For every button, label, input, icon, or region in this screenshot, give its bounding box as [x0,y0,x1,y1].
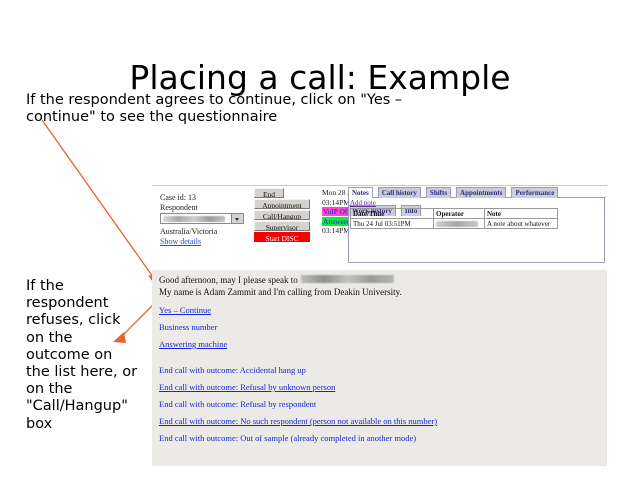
tab-call-history[interactable]: Call history [378,187,421,198]
show-details-link[interactable]: Show details [160,237,201,247]
respondent-select[interactable] [160,213,244,224]
table-header-row: Date/Time Operator Note [351,209,558,219]
cell-note: A note about whatever [485,219,558,229]
table-row[interactable]: Thu 24 Jul 03:51PM A note about whatever [351,219,558,229]
call-control-panel: Case id: 13 Respondent Australia/Victori… [156,190,346,260]
tab-performance[interactable]: Performance [511,187,558,198]
slide-canvas: Placing a call: Example If the responden… [0,0,640,480]
outcome-link-accidental-hangup[interactable]: End call with outcome: Accidental hang u… [159,365,306,375]
outcome-link-refusal-respondent[interactable]: End call with outcome: Refusal by respon… [159,399,316,409]
call-hangup-button[interactable]: Call/Hangup [254,210,310,220]
left-callout-text: If the respondent refuses, click on the … [26,278,138,433]
app-top-strip: Case id: 13 Respondent Australia/Victori… [152,185,607,264]
chevron-down-icon[interactable] [231,214,243,223]
start-disc-button[interactable]: Start DISC [254,232,310,242]
outcome-link-business-number[interactable]: Business number [159,322,217,332]
outcome-link-no-such-respondent[interactable]: End call with outcome: No such responden… [159,416,437,426]
column-header-datetime: Date/Time [351,209,434,219]
notes-table: Date/Time Operator Note Thu 24 Jul 03:51… [350,208,558,229]
outcome-link-answering-machine[interactable]: Answering machine [159,339,227,349]
supervisor-button[interactable]: Supervisor [254,221,310,231]
respondent-name-redacted [301,275,394,283]
script-area: Good afternoon, may I please speak to My… [152,270,607,466]
tab-notes[interactable]: Notes [348,187,373,198]
voip-status-badge[interactable]: VoIP Off [322,207,351,216]
timezone-label: Australia/Victoria [160,227,217,237]
end-button[interactable]: End [254,188,284,198]
top-callout-text: If the respondent agrees to continue, cl… [26,92,456,126]
script-line-greeting: Good afternoon, may I please speak to [159,275,298,286]
script-line-introduction: My name is Adam Zammit and I'm calling f… [159,287,402,298]
cell-datetime: Thu 24 Jul 03:51PM [351,219,434,229]
tab-shifts[interactable]: Shifts [426,187,451,198]
add-note-link[interactable]: Add note [350,199,376,207]
respondent-label: Respondent [160,203,198,213]
embedded-app-screenshot: Case id: 13 Respondent Australia/Victori… [152,185,607,466]
appointment-button[interactable]: Appointment [254,199,310,209]
outcome-link-yes-continue[interactable]: Yes – Continue [159,305,211,315]
notes-panel: Notes Call history Shifts Appointments P… [348,187,606,264]
notes-tab-row: Notes Call history Shifts Appointments P… [348,187,606,198]
outcome-link-refusal-unknown[interactable]: End call with outcome: Refusal by unknow… [159,382,335,392]
outcome-link-out-of-sample[interactable]: End call with outcome: Out of sample (al… [159,433,416,443]
respondent-redacted-value [163,216,225,222]
operator-redacted-value [436,221,478,227]
case-id-label: Case id: 13 [160,193,196,203]
column-header-note: Note [485,209,558,219]
cell-operator [434,219,485,229]
tab-appointments[interactable]: Appointments [456,187,506,198]
call-action-buttons: End Appointment Call/Hangup Supervisor S… [254,188,314,243]
column-header-operator: Operator [434,209,485,219]
